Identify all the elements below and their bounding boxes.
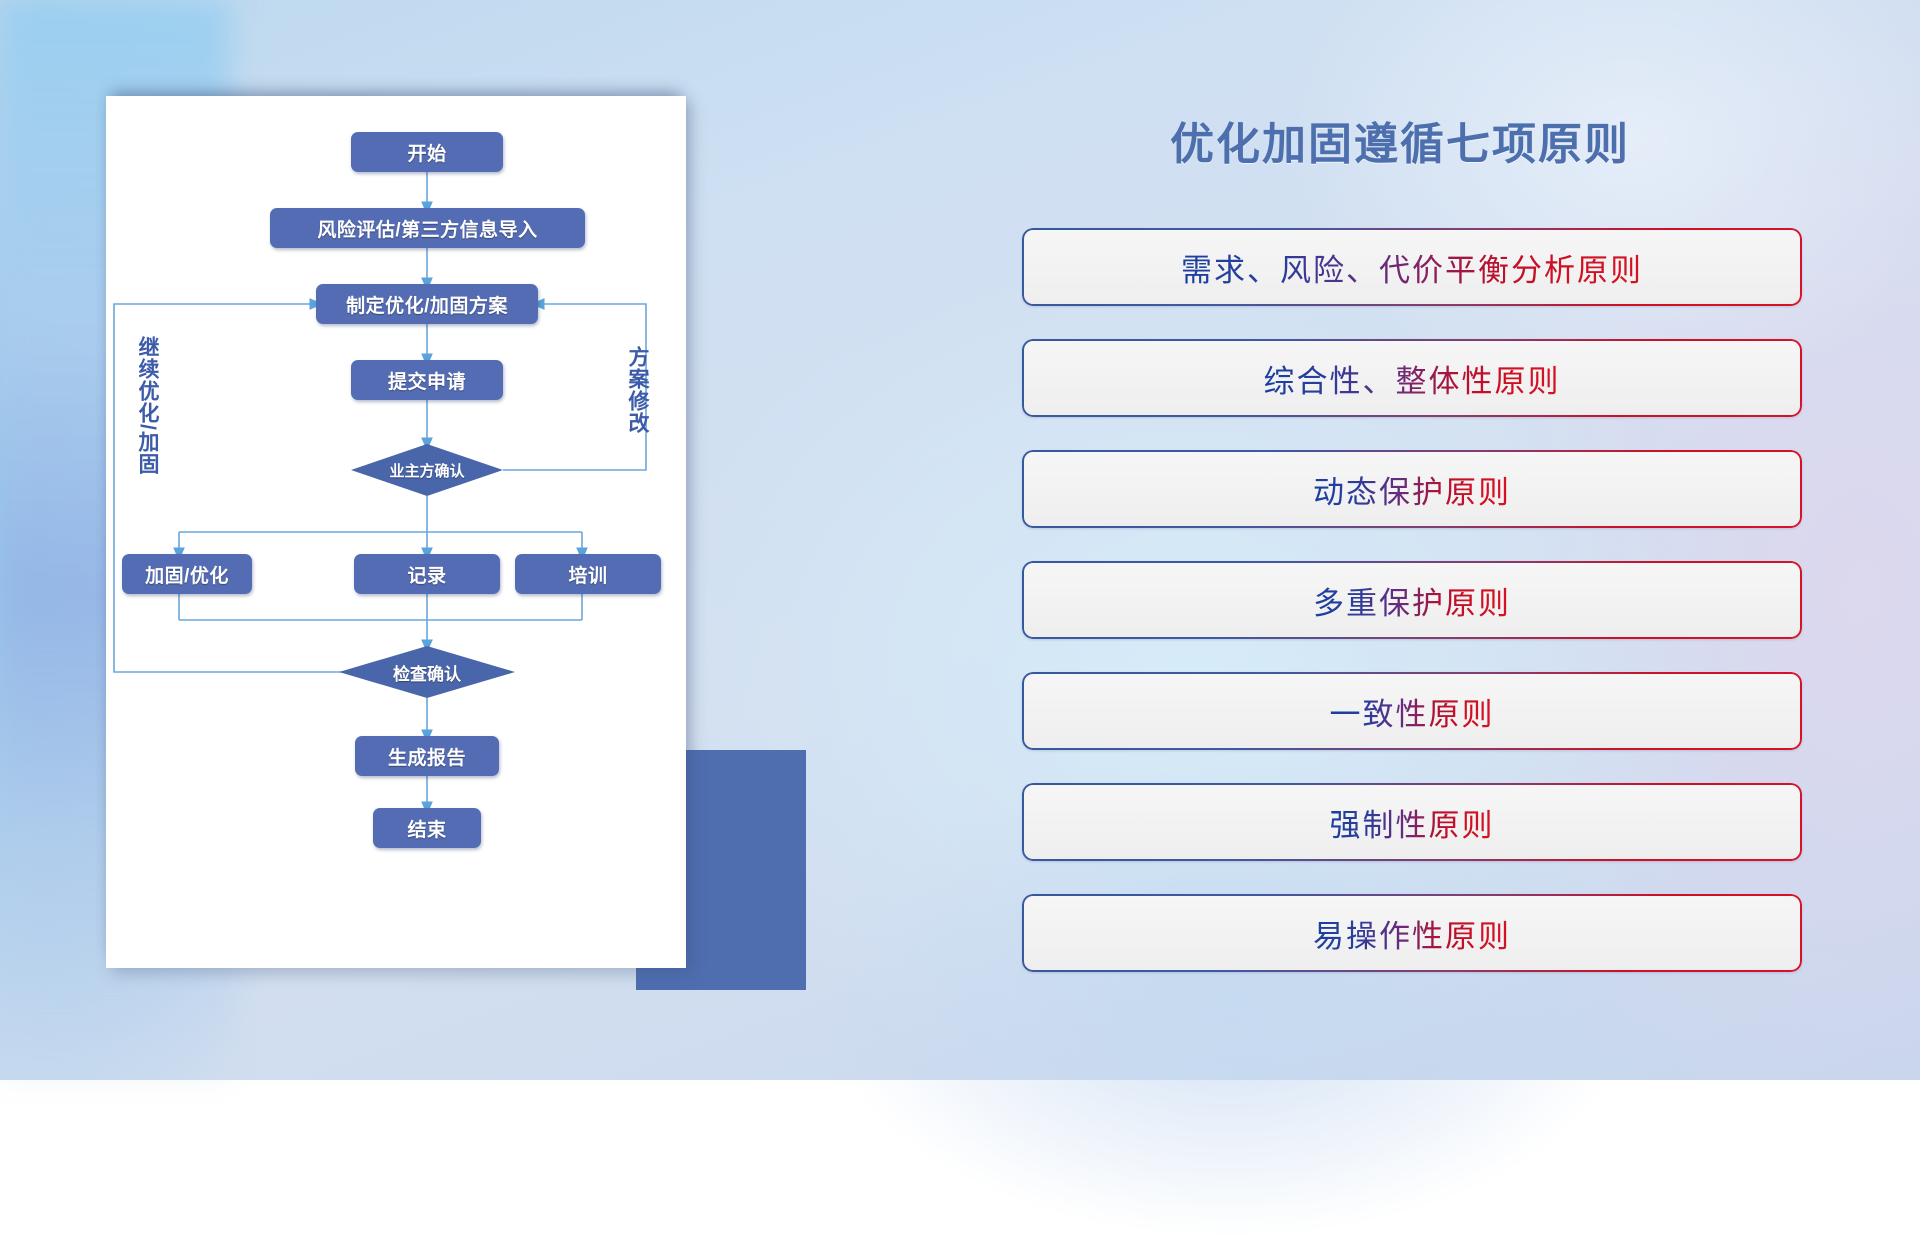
- principle-item-1[interactable]: 需求、风险、代价平衡分析原则: [1022, 228, 1802, 306]
- flow-node-check-confirm[interactable]: 检查确认: [351, 646, 503, 698]
- flow-node-end[interactable]: 结束: [373, 808, 481, 848]
- flow-node-risk-assessment-label: 风险评估/第三方信息导入: [317, 215, 537, 242]
- flow-node-training[interactable]: 培训: [515, 554, 661, 594]
- flow-node-reinforce[interactable]: 加固/优化: [122, 554, 252, 594]
- flow-node-owner-confirm-label: 业主方确认: [389, 460, 464, 481]
- principle-item-4[interactable]: 多重保护原则: [1022, 561, 1802, 639]
- flow-node-start[interactable]: 开始: [351, 132, 503, 172]
- principle-item-6[interactable]: 强制性原则: [1022, 783, 1802, 861]
- flow-node-end-label: 结束: [407, 815, 446, 842]
- flow-node-record[interactable]: 记录: [354, 554, 500, 594]
- principle-label: 动态保护原则: [1313, 467, 1511, 512]
- principle-item-7[interactable]: 易操作性原则: [1022, 894, 1802, 972]
- flow-node-submit-label: 提交申请: [388, 367, 466, 394]
- principle-label: 强制性原则: [1330, 800, 1495, 845]
- flow-node-check-confirm-label: 检查确认: [393, 660, 461, 685]
- principle-item-5[interactable]: 一致性原则: [1022, 672, 1802, 750]
- flow-node-report[interactable]: 生成报告: [355, 736, 499, 776]
- principle-label: 需求、风险、代价平衡分析原则: [1181, 245, 1643, 290]
- flow-node-reinforce-label: 加固/优化: [145, 561, 229, 588]
- flow-node-plan[interactable]: 制定优化/加固方案: [316, 284, 538, 324]
- principle-label: 易操作性原则: [1313, 911, 1511, 956]
- principle-label: 多重保护原则: [1313, 578, 1511, 623]
- flow-node-plan-label: 制定优化/加固方案: [346, 291, 508, 318]
- flow-node-report-label: 生成报告: [388, 743, 466, 770]
- edge-label-continue-optimize: 继续优化/加固: [132, 336, 162, 475]
- flowchart-card: 开始 风险评估/第三方信息导入 制定优化/加固方案 提交申请 业主方确认 加固/…: [106, 96, 686, 968]
- flow-node-risk-assessment[interactable]: 风险评估/第三方信息导入: [270, 208, 585, 248]
- flow-node-start-label: 开始: [407, 139, 446, 166]
- principle-item-3[interactable]: 动态保护原则: [1022, 450, 1802, 528]
- principle-label: 一致性原则: [1330, 689, 1495, 734]
- edge-label-plan-revision: 方案修改: [622, 346, 652, 434]
- flow-node-record-label: 记录: [407, 561, 446, 588]
- principle-label: 综合性、整体性原则: [1264, 356, 1561, 401]
- flow-node-owner-confirm[interactable]: 业主方确认: [351, 444, 503, 496]
- flow-node-training-label: 培训: [568, 561, 607, 588]
- principles-list: 需求、风险、代价平衡分析原则 综合性、整体性原则 动态保护原则 多重保护原则 一…: [1022, 228, 1802, 1005]
- flow-node-submit[interactable]: 提交申请: [351, 360, 503, 400]
- page-title: 优化加固遵循七项原则: [1030, 108, 1770, 172]
- principle-item-2[interactable]: 综合性、整体性原则: [1022, 339, 1802, 417]
